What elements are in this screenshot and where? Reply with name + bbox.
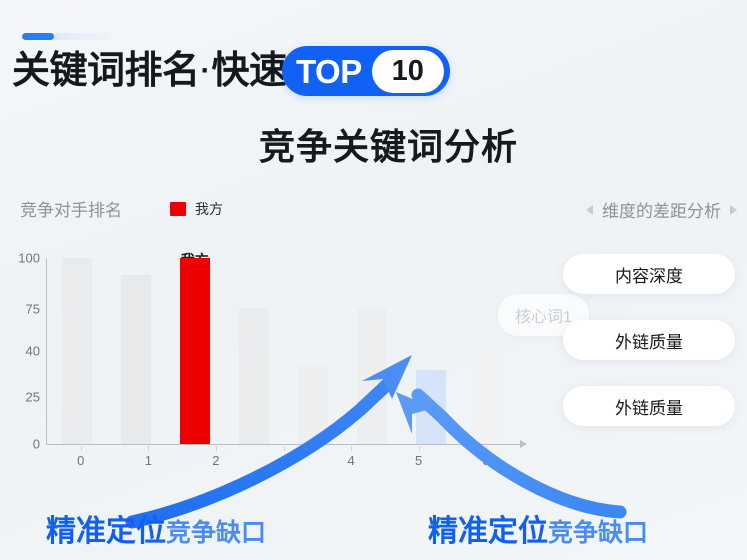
bar-competitor <box>239 308 269 444</box>
caption-left-strong: 精准定位 <box>46 515 166 548</box>
x-axis-tick-label: 5 <box>483 453 490 468</box>
top-badge-label: TOP <box>292 55 372 88</box>
triangle-right-icon <box>730 205 737 215</box>
dimension-gap-header: 维度的差距分析 <box>586 197 737 222</box>
x-axis-tick-label: 0 <box>77 453 84 468</box>
x-axis-tick <box>419 446 420 451</box>
triangle-left-icon <box>586 205 593 215</box>
progress-bar-fill <box>22 33 54 40</box>
x-axis-tick-label: 4 <box>347 453 354 468</box>
progress-bar-decoration <box>22 33 110 40</box>
x-axis-tick <box>148 446 149 451</box>
legend-item-label: 我方 <box>195 199 223 219</box>
caption-left-soft: 竞争缺口 <box>166 519 266 547</box>
dimension-gap-title: 维度的差距分析 <box>602 197 721 222</box>
caption-right-soft: 竞争缺口 <box>548 519 648 547</box>
x-axis-tick <box>216 446 217 451</box>
competitor-axis-title: 竞争对手排名 <box>20 196 122 221</box>
x-axis-tick-label: 3 <box>280 453 287 468</box>
top-badge-number: 10 <box>372 50 444 93</box>
bar-my-rank <box>180 258 210 444</box>
x-axis-tick-label: 1 <box>145 453 152 468</box>
y-axis-tick-label: 40 <box>26 344 40 359</box>
dimension-card[interactable]: 外链质量 <box>563 320 735 360</box>
x-axis-tick-label: 5 <box>415 453 422 468</box>
chart-plot-area: 我方 <box>47 258 520 444</box>
caption-right: 精准定位竞争缺口 <box>428 506 648 550</box>
dimension-card[interactable]: 内容深度 <box>563 254 735 294</box>
y-axis-tick-label: 100 <box>18 251 40 266</box>
x-axis-tick <box>351 446 352 451</box>
headline: 关键词排名 · 快速 <box>12 44 257 98</box>
x-axis-line <box>46 444 522 445</box>
competitor-bar-chart: 1007540250 我方 0123455 <box>0 240 560 480</box>
headline-part2: 快速 <box>212 52 287 90</box>
top-rank-badge: TOP 10 <box>282 46 450 96</box>
headline-part1: 关键词排名 <box>12 52 200 90</box>
bar-competitor <box>121 275 151 444</box>
caption-right-strong: 精准定位 <box>428 515 548 548</box>
x-axis-tick <box>81 446 82 451</box>
x-axis-tick <box>486 446 487 451</box>
x-axis-tick <box>284 446 285 451</box>
legend-color-swatch-icon <box>170 202 186 216</box>
y-axis-labels: 1007540250 <box>0 240 40 426</box>
headline-separator-dot: · <box>201 54 211 88</box>
y-axis-tick-label: 25 <box>26 389 40 404</box>
legend-row: 竞争对手排名 我方 <box>20 196 223 221</box>
bar-competitor <box>298 366 328 444</box>
page-title: 竞争关键词分析 <box>0 118 747 170</box>
bar-competitor <box>475 342 505 444</box>
x-axis-tick-label: 2 <box>212 453 219 468</box>
bar-competitor <box>357 308 387 444</box>
dimension-card[interactable]: 外链质量 <box>563 386 735 426</box>
y-axis-tick-label: 75 <box>26 302 40 317</box>
bar-competitor <box>416 370 446 444</box>
caption-left: 精准定位竞争缺口 <box>46 506 266 550</box>
legend-item-mine: 我方 <box>170 199 223 219</box>
dimension-card-list: 内容深度 外链质量 外链质量 <box>563 254 735 452</box>
y-axis-tick-label: 0 <box>33 437 40 452</box>
bar-competitor <box>62 258 92 444</box>
x-axis-arrow-icon <box>520 440 527 448</box>
